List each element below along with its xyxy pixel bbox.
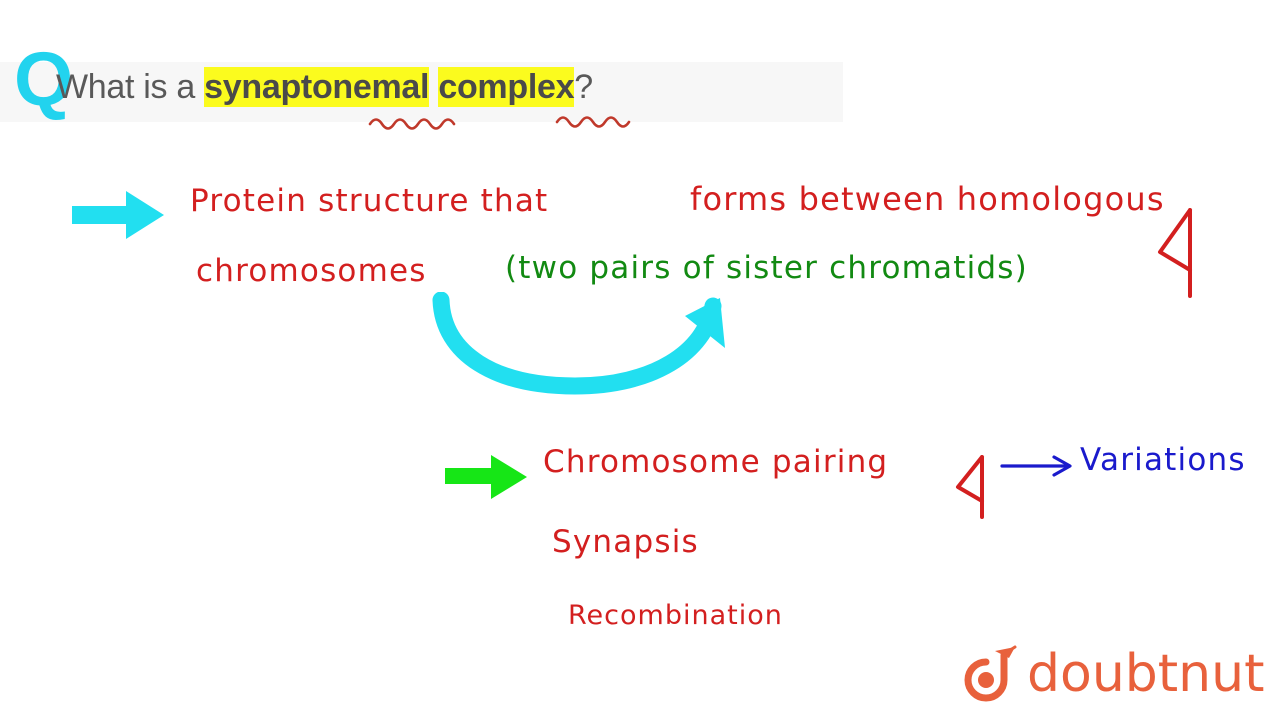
answer-line-1-red-a: Protein structure that — [190, 183, 548, 219]
question-highlight-complex: complex — [438, 67, 574, 107]
red-down-caret-icon — [1150, 208, 1210, 303]
question-highlight-synaptonemal: synaptonemal — [204, 67, 429, 107]
answer-line-3-red: Chromosome pairing — [543, 444, 888, 480]
answer-line-4-red: Synapsis — [552, 524, 699, 560]
question-suffix: ? — [574, 68, 593, 106]
doubtnut-wordmark: doubtnut — [1027, 648, 1264, 700]
doubtnut-logo: doubtnut — [955, 645, 1264, 703]
question-prefix: What is a — [56, 68, 204, 106]
answer-line-5-red: Recombination — [568, 600, 783, 631]
question-space — [429, 68, 438, 106]
screenshot-canvas: Q What is a synaptonemal complex? Protei… — [0, 0, 1280, 720]
cyan-curved-arrow-icon — [425, 292, 745, 402]
page-title: What is a synaptonemal complex? — [56, 68, 593, 107]
answer-line-3-blue: Variations — [1080, 442, 1246, 478]
answer-line-2-red: chromosomes — [196, 253, 427, 289]
blue-arrow-right-icon — [1000, 450, 1080, 484]
cyan-arrow-right-icon — [68, 186, 172, 244]
spellcheck-squiggle-icon — [368, 112, 458, 134]
green-arrow-right-icon — [443, 452, 533, 502]
red-down-caret-icon-2 — [952, 455, 1002, 523]
doubtnut-logo-icon — [955, 645, 1017, 703]
answer-line-1-red-b: forms between homologous — [690, 180, 1165, 218]
spellcheck-squiggle-icon-2 — [555, 110, 635, 132]
answer-line-2-green: (two pairs of sister chromatids) — [505, 250, 1028, 286]
